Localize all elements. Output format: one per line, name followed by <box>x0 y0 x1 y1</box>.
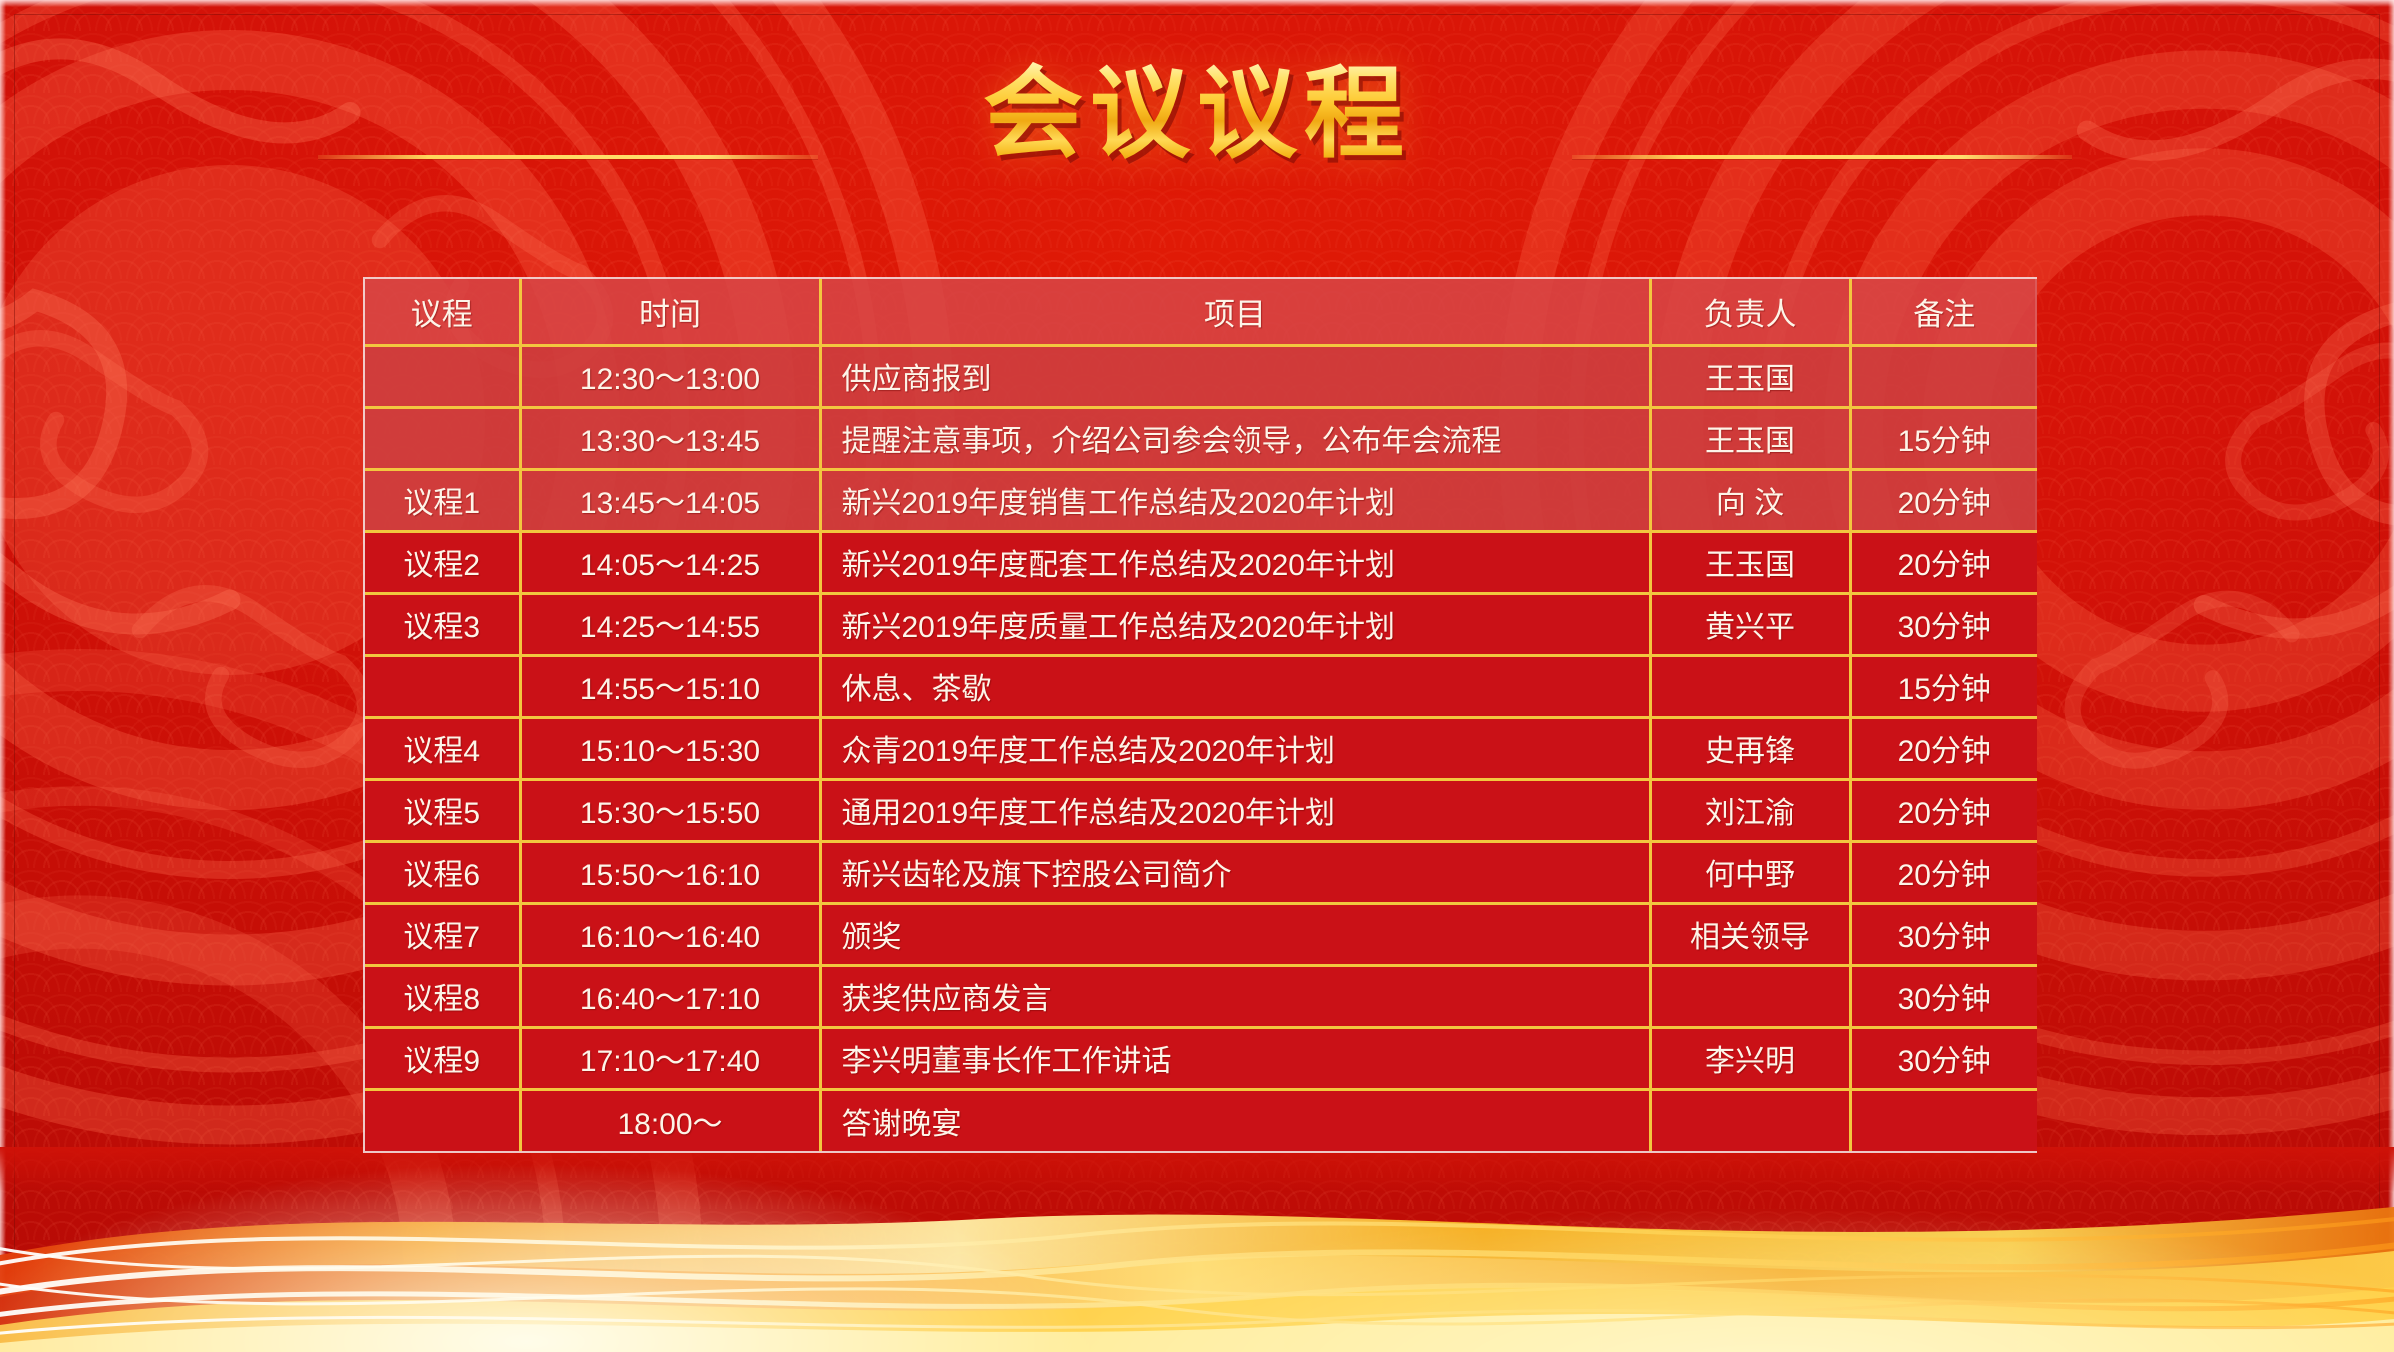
cell-owner: 黄兴平 <box>1650 593 1850 655</box>
cell-agenda <box>365 1089 520 1151</box>
cell-agenda: 议程4 <box>365 717 520 779</box>
cell-owner: 相关领导 <box>1650 903 1850 965</box>
table-row: 议程917:10～17:40李兴明董事长作工作讲话李兴明30分钟 <box>365 1027 2037 1089</box>
cell-time: 16:10～16:40 <box>520 903 820 965</box>
cell-owner: 王玉国 <box>1650 531 1850 593</box>
cell-owner: 王玉国 <box>1650 407 1850 469</box>
cell-item: 答谢晚宴 <box>820 1089 1650 1151</box>
agenda-table: 议程 时间 项目 负责人 备注 12:30～13:00供应商报到王玉国13:30… <box>365 279 2037 1151</box>
cell-note: 30分钟 <box>1850 965 2037 1027</box>
table-row: 13:30～13:45提醒注意事项，介绍公司参会领导，公布年会流程王玉国15分钟 <box>365 407 2037 469</box>
table-row: 14:55～15:10休息、茶歇15分钟 <box>365 655 2037 717</box>
slide-edge-top <box>0 0 2394 7</box>
cell-owner <box>1650 1089 1850 1151</box>
title-block: 会议议程 <box>0 62 2394 167</box>
cell-note: 20分钟 <box>1850 531 2037 593</box>
cell-note: 20分钟 <box>1850 469 2037 531</box>
table-row: 议程314:25～14:55新兴2019年度质量工作总结及2020年计划黄兴平3… <box>365 593 2037 655</box>
cell-item: 新兴2019年度销售工作总结及2020年计划 <box>820 469 1650 531</box>
cell-note: 30分钟 <box>1850 1027 2037 1089</box>
cell-time: 17:10～17:40 <box>520 1027 820 1089</box>
cell-note: 30分钟 <box>1850 593 2037 655</box>
cell-note <box>1850 345 2037 407</box>
slide-canvas: 会议议程 议程 时间 项目 负责人 备注 12:30～13:00供应商报到王玉国… <box>0 0 2394 1352</box>
cell-owner: 史再锋 <box>1650 717 1850 779</box>
cell-item: 供应商报到 <box>820 345 1650 407</box>
cell-time: 15:10～15:30 <box>520 717 820 779</box>
cell-agenda: 议程9 <box>365 1027 520 1089</box>
cell-note: 20分钟 <box>1850 717 2037 779</box>
cell-item: 李兴明董事长作工作讲话 <box>820 1027 1650 1089</box>
column-header-time: 时间 <box>520 279 820 345</box>
table-row: 议程716:10～16:40颁奖相关领导30分钟 <box>365 903 2037 965</box>
cell-item: 休息、茶歇 <box>820 655 1650 717</box>
cell-item: 通用2019年度工作总结及2020年计划 <box>820 779 1650 841</box>
table-row: 18:00～答谢晚宴 <box>365 1089 2037 1151</box>
cell-owner: 何中野 <box>1650 841 1850 903</box>
cell-owner <box>1650 655 1850 717</box>
column-header-agenda: 议程 <box>365 279 520 345</box>
table-row: 议程816:40～17:10获奖供应商发言30分钟 <box>365 965 2037 1027</box>
cell-time: 18:00～ <box>520 1089 820 1151</box>
cell-time: 15:30～15:50 <box>520 779 820 841</box>
cell-agenda <box>365 407 520 469</box>
cell-agenda <box>365 655 520 717</box>
cell-time: 14:55～15:10 <box>520 655 820 717</box>
title-divider-right <box>1572 155 2072 159</box>
cell-agenda: 议程8 <box>365 965 520 1027</box>
cell-time: 13:30～13:45 <box>520 407 820 469</box>
cell-agenda: 议程6 <box>365 841 520 903</box>
cell-note: 15分钟 <box>1850 655 2037 717</box>
cell-agenda: 议程2 <box>365 531 520 593</box>
cell-note: 20分钟 <box>1850 841 2037 903</box>
cell-time: 15:50～16:10 <box>520 841 820 903</box>
table-header-row: 议程 时间 项目 负责人 备注 <box>365 279 2037 345</box>
cell-item: 提醒注意事项，介绍公司参会领导，公布年会流程 <box>820 407 1650 469</box>
cell-item: 新兴2019年度质量工作总结及2020年计划 <box>820 593 1650 655</box>
cell-note <box>1850 1089 2037 1151</box>
table-row: 12:30～13:00供应商报到王玉国 <box>365 345 2037 407</box>
table-row: 议程113:45～14:05新兴2019年度销售工作总结及2020年计划向 汶2… <box>365 469 2037 531</box>
column-header-owner: 负责人 <box>1650 279 1850 345</box>
page-title: 会议议程 <box>983 62 1411 167</box>
table-row: 议程515:30～15:50通用2019年度工作总结及2020年计划刘江渝20分… <box>365 779 2037 841</box>
title-divider-left <box>318 155 818 159</box>
cell-agenda: 议程3 <box>365 593 520 655</box>
cell-time: 16:40～17:10 <box>520 965 820 1027</box>
column-header-note: 备注 <box>1850 279 2037 345</box>
cell-time: 12:30～13:00 <box>520 345 820 407</box>
cell-owner: 王玉国 <box>1650 345 1850 407</box>
cell-time: 13:45～14:05 <box>520 469 820 531</box>
cell-owner: 向 汶 <box>1650 469 1850 531</box>
cell-agenda: 议程5 <box>365 779 520 841</box>
column-header-item: 项目 <box>820 279 1650 345</box>
cell-owner: 李兴明 <box>1650 1027 1850 1089</box>
cell-owner: 刘江渝 <box>1650 779 1850 841</box>
cell-time: 14:25～14:55 <box>520 593 820 655</box>
cell-owner <box>1650 965 1850 1027</box>
cell-agenda <box>365 345 520 407</box>
cell-note: 30分钟 <box>1850 903 2037 965</box>
cell-item: 获奖供应商发言 <box>820 965 1650 1027</box>
golden-wave-ribbon <box>0 1147 2394 1352</box>
table-row: 议程415:10～15:30众青2019年度工作总结及2020年计划史再锋20分… <box>365 717 2037 779</box>
cell-note: 15分钟 <box>1850 407 2037 469</box>
agenda-table-container: 议程 时间 项目 负责人 备注 12:30～13:00供应商报到王玉国13:30… <box>363 277 2037 1153</box>
cell-item: 颁奖 <box>820 903 1650 965</box>
cell-item: 众青2019年度工作总结及2020年计划 <box>820 717 1650 779</box>
cell-agenda: 议程7 <box>365 903 520 965</box>
cell-agenda: 议程1 <box>365 469 520 531</box>
cell-item: 新兴2019年度配套工作总结及2020年计划 <box>820 531 1650 593</box>
cell-item: 新兴齿轮及旗下控股公司简介 <box>820 841 1650 903</box>
agenda-table-body: 12:30～13:00供应商报到王玉国13:30～13:45提醒注意事项，介绍公… <box>365 345 2037 1151</box>
table-row: 议程615:50～16:10新兴齿轮及旗下控股公司简介何中野20分钟 <box>365 841 2037 903</box>
cell-time: 14:05～14:25 <box>520 531 820 593</box>
table-row: 议程214:05～14:25新兴2019年度配套工作总结及2020年计划王玉国2… <box>365 531 2037 593</box>
cell-note: 20分钟 <box>1850 779 2037 841</box>
